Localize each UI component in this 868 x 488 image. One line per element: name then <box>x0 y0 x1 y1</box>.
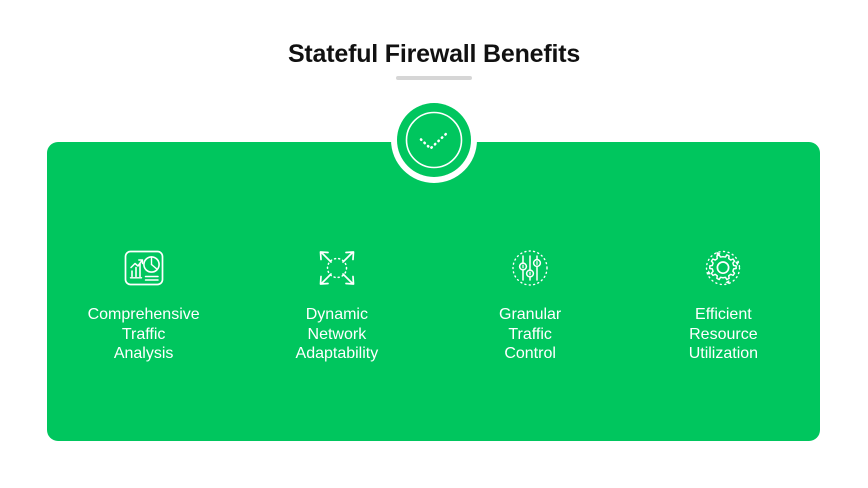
benefit-label: Granular Traffic Control <box>499 305 561 364</box>
benefits-row: Comprehensive Traffic Analysis Dynamic N… <box>47 245 820 385</box>
infographic-root: Stateful Firewall Benefits <box>0 0 868 488</box>
expand-arrows-icon <box>314 245 360 291</box>
title-divider <box>396 76 472 80</box>
sliders-control-icon <box>507 245 553 291</box>
benefit-label: Efficient Resource Utilization <box>689 305 758 364</box>
benefit-item[interactable]: Comprehensive Traffic Analysis <box>53 245 235 364</box>
check-circle-dotted-icon <box>397 103 471 177</box>
analytics-chart-icon <box>121 245 167 291</box>
page-title: Stateful Firewall Benefits <box>0 38 868 70</box>
benefit-label: Comprehensive Traffic Analysis <box>88 305 200 364</box>
benefit-item[interactable]: Efficient Resource Utilization <box>632 245 814 364</box>
gear-optimize-icon <box>700 245 746 291</box>
check-badge <box>391 97 477 183</box>
benefit-label: Dynamic Network Adaptability <box>296 305 379 364</box>
benefit-item[interactable]: Granular Traffic Control <box>439 245 621 364</box>
benefit-item[interactable]: Dynamic Network Adaptability <box>246 245 428 364</box>
